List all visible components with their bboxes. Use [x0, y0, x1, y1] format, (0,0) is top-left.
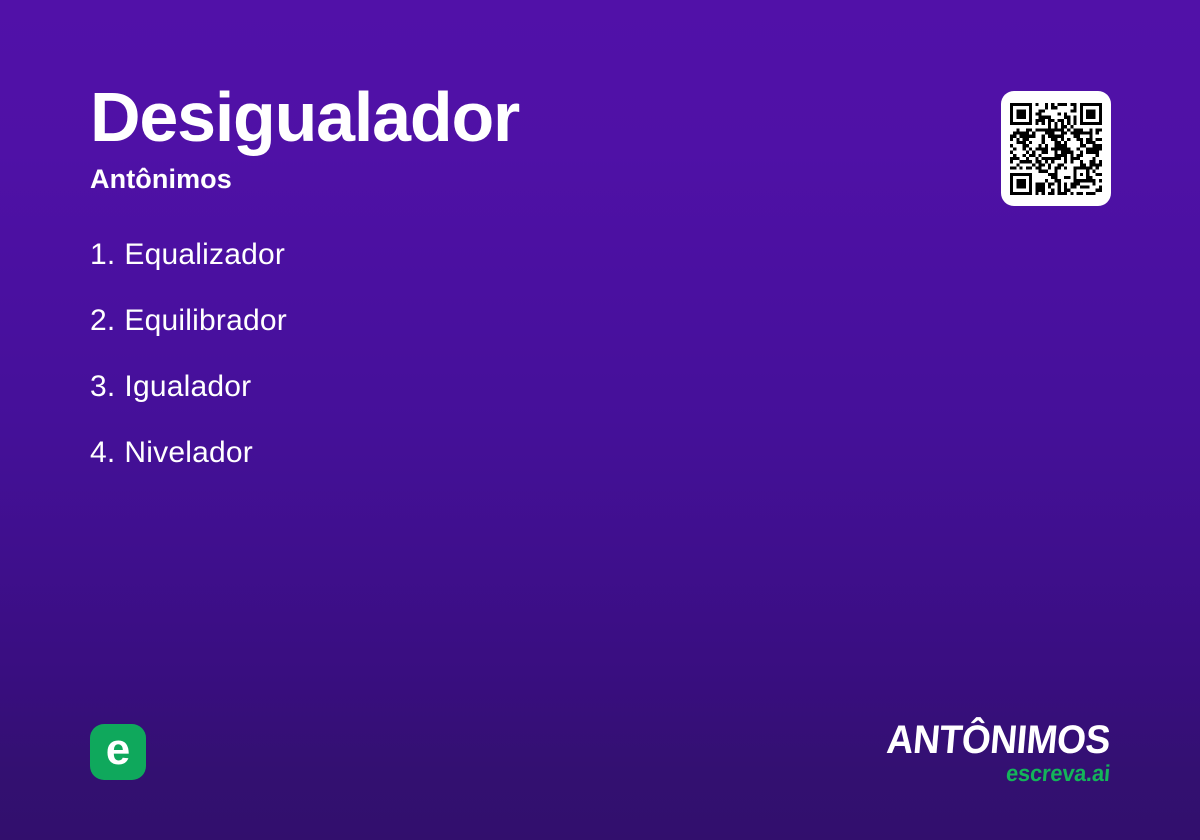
list-item-label: Nivelador [124, 436, 253, 470]
list-item: 1. Equalizador [90, 238, 910, 304]
header: Desigualador Antônimos [90, 82, 910, 193]
list-item-index: 3. [90, 370, 115, 404]
page-subtitle: Antônimos [90, 166, 910, 193]
qr-code-icon [1010, 103, 1102, 195]
qr-code[interactable] [1001, 91, 1111, 206]
brand-domain: escreva.ai [805, 762, 1111, 785]
list-item-index: 2. [90, 304, 115, 338]
list-item: 3. Igualador [90, 370, 910, 436]
list-item: 4. Nivelador [90, 436, 910, 502]
list-item-label: Equilibrador [124, 304, 287, 338]
antonyms-card: Desigualador Antônimos 1. Equalizador 2.… [0, 0, 1200, 840]
list-item-index: 1. [90, 238, 115, 272]
escreva-e-icon[interactable]: e [90, 724, 146, 780]
list-item-label: Equalizador [124, 238, 285, 272]
page-title: Desigualador [90, 82, 910, 152]
list-item-index: 4. [90, 436, 115, 470]
list-item-label: Igualador [124, 370, 251, 404]
brand-logo: ANTÔNIMOS escreva.ai [790, 720, 1110, 785]
brand-name: ANTÔNIMOS [811, 720, 1112, 760]
antonyms-list: 1. Equalizador 2. Equilibrador 3. Iguala… [90, 238, 910, 502]
list-item: 2. Equilibrador [90, 304, 910, 370]
escreva-e-letter: e [106, 728, 130, 772]
